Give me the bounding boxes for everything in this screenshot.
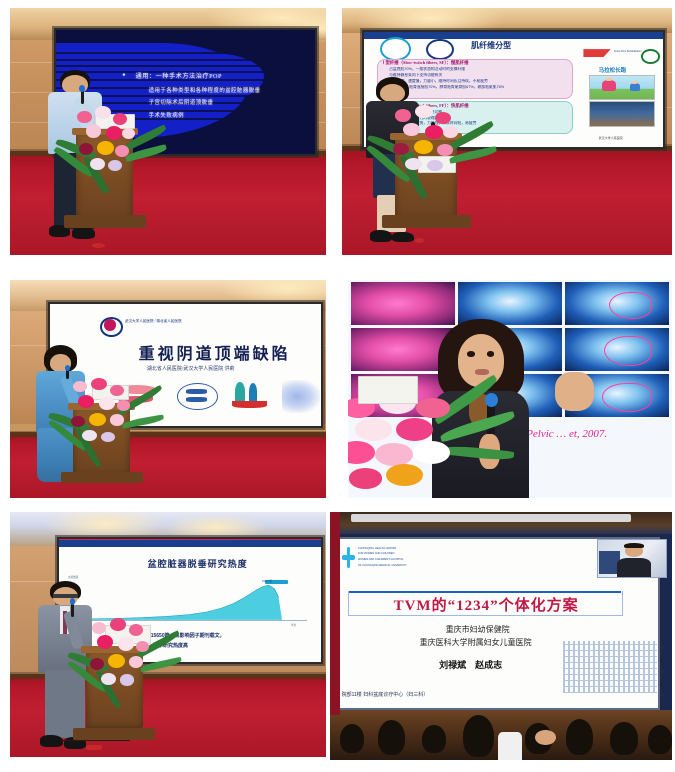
foreground-flower-bouquet: [348, 389, 504, 498]
flower-bouquet: [67, 102, 155, 196]
photo-1-male-speaker-blue-slide: ● 通用：一种手术方法治疗POP 适用于各种类型和各种程度的盆腔脏器脱垂 子宫切…: [10, 8, 326, 255]
conference-hall-scene: ● 通用：一种手术方法治疗POP 适用于各种类型和各种程度的盆腔脏器脱垂 子宫切…: [10, 8, 326, 255]
audience-row: [330, 710, 672, 760]
photo-2-female-speaker-muscle-fiber-slide: 肌纤维分型 Ⅰ 型纤维（Slow-twitch fibers, SF）：慢肌纤维…: [342, 8, 672, 255]
photo-4-speaker-mri-grid-slide: Pelvic … et, 2007.: [348, 280, 672, 498]
conference-hall-scene: 盆腔脏器脱垂研究热度 文献数量 年份 15650篇: [10, 512, 326, 757]
conference-hall-scene: 肌纤维分型 Ⅰ 型纤维（Slow-twitch fibers, SF）：慢肌纤维…: [342, 8, 672, 255]
video-conference-inset[interactable]: [597, 539, 667, 578]
photo-6-tvm-title-slide-projection: CHONGQING HEALTH CENTER FOR WOMEN AND CH…: [330, 512, 672, 760]
podium-name-card: [358, 376, 418, 404]
flower-bouquet: [80, 615, 168, 708]
conference-hall-scene: 武汉大学人民医院 / 湖北省人民医院 重视阴道顶端缺陷 湖北省人民医院/武汉大学…: [10, 280, 326, 498]
photo-3-female-speaker-title-slide: 武汉大学人民医院 / 湖北省人民医院 重视阴道顶端缺陷 湖北省人民医院/武汉大学…: [10, 280, 326, 498]
flower-bouquet: [61, 376, 149, 463]
photo-5-male-speaker-chart-slide: 盆腔脏器脱垂研究热度 文献数量 年份 15650篇: [10, 512, 326, 757]
slide4-citation: Pelvic … et, 2007.: [526, 428, 607, 440]
flower-bouquet: [382, 102, 481, 196]
photo-collage: ● 通用：一种手术方法治疗POP 适用于各种类型和各种程度的盆腔脏器脱垂 子宫切…: [0, 0, 675, 772]
